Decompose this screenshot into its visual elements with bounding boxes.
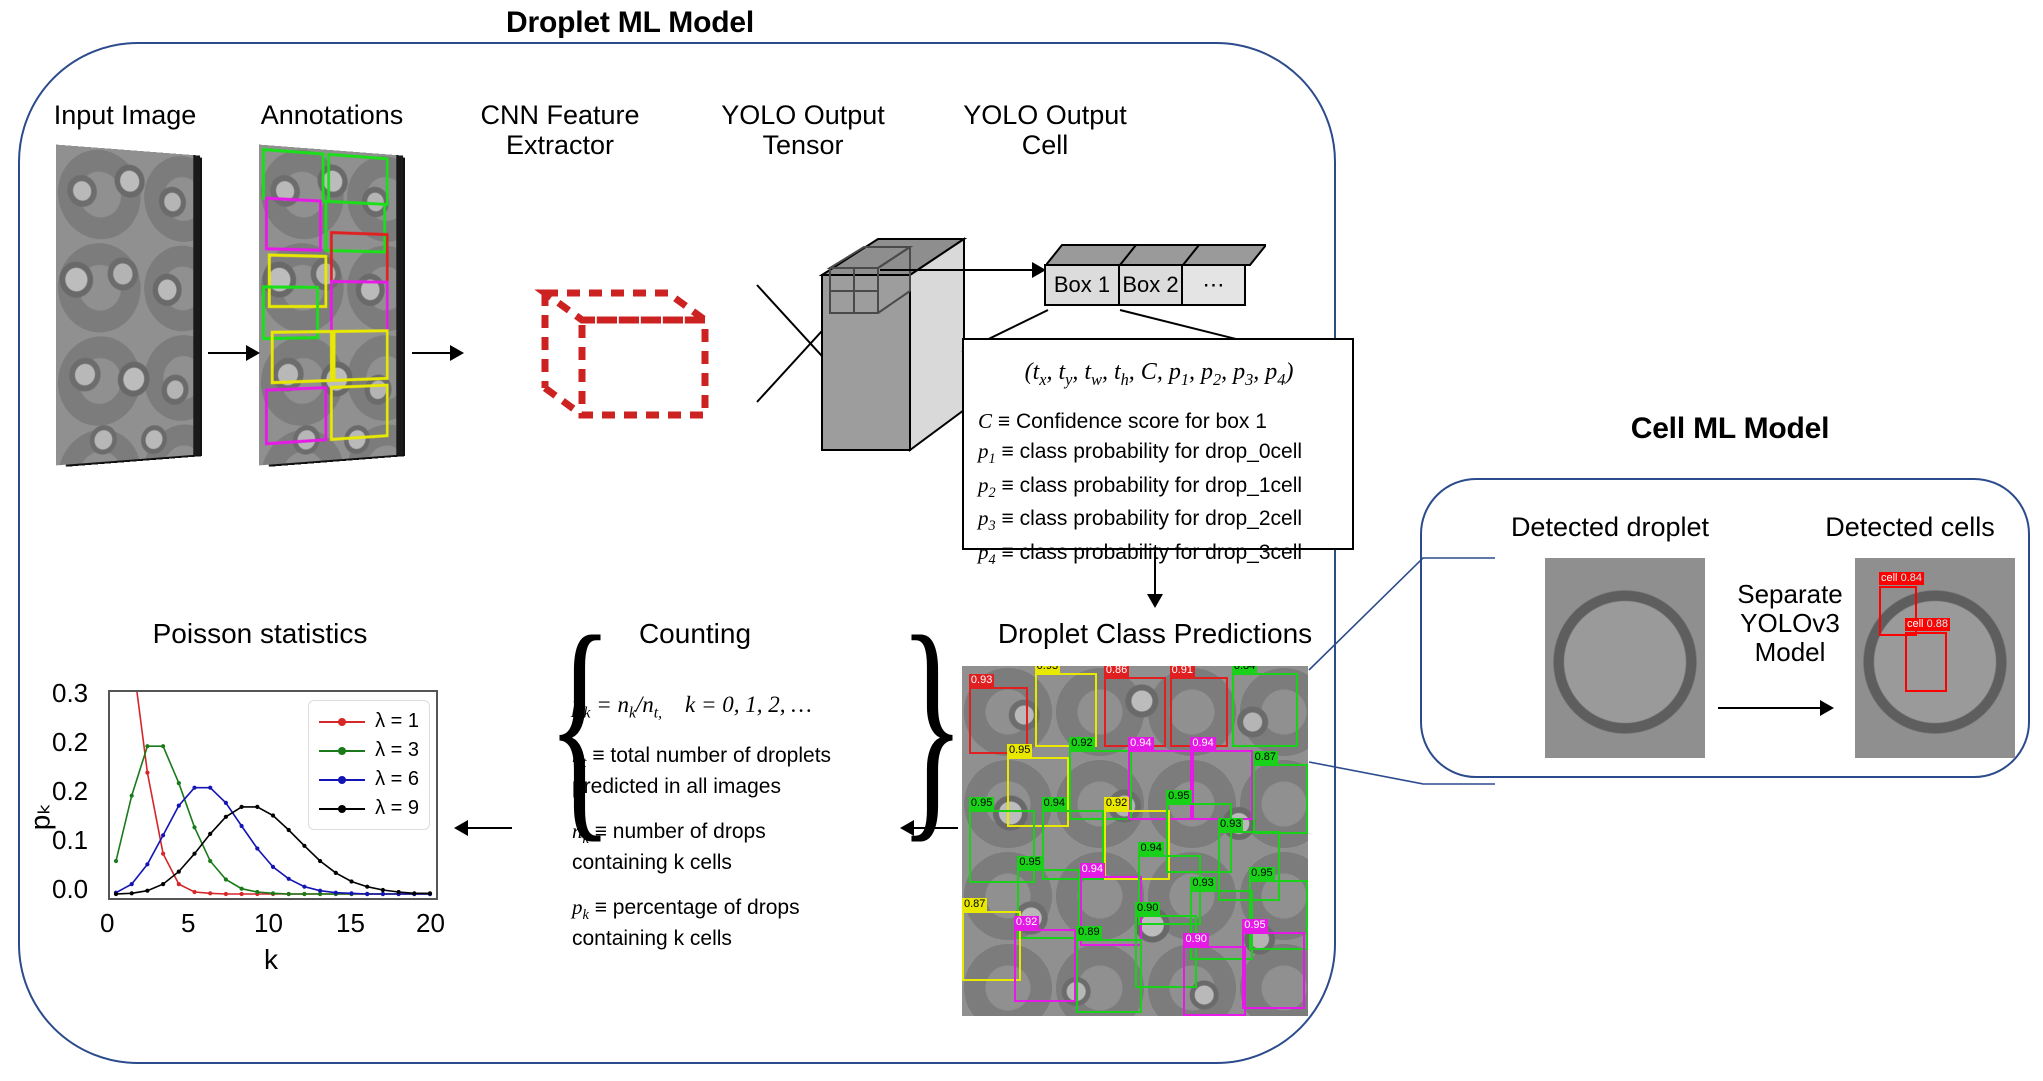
droplet-panel-title: Droplet ML Model [420, 6, 840, 40]
droplet-detection-box [1170, 677, 1229, 747]
annotations-image-thumbnail [255, 150, 405, 460]
counting-formula: pk = nk/nt, k = 0, 1, 2, … [572, 690, 862, 724]
chart-point [161, 882, 165, 886]
chart-point [130, 794, 134, 798]
detected-cells-label: Detected cells [1790, 512, 2030, 543]
chart-point [271, 891, 275, 895]
droplet-detection-score: 0.86 [1104, 666, 1129, 677]
droplet-detection-box [1242, 932, 1304, 1009]
chart-point [240, 824, 244, 828]
chart-point [240, 887, 244, 891]
chart-point [130, 882, 134, 886]
chart-point [334, 871, 338, 875]
stage-label-yolo-output-cell: YOLO Output Cell [930, 100, 1160, 160]
chart-point [287, 892, 291, 896]
chart-point [318, 889, 322, 893]
chart-point [271, 813, 275, 817]
chart-ytick-4: 0.0 [52, 874, 88, 905]
legend-label-3: λ = 9 [375, 797, 419, 820]
legend-swatch-3 [319, 808, 365, 810]
droplet-detection-score: 0.93 [1218, 818, 1243, 831]
droplet-detection-box [1232, 673, 1298, 747]
chart-point [381, 888, 385, 892]
counting-def-pk: pk ≡ percentage of drops containing k ce… [572, 894, 862, 952]
separate-model-label: Separate YOLOv3 Model [1700, 580, 1880, 667]
chart-point [130, 891, 134, 895]
chart-point [161, 833, 165, 837]
droplet-detection-box [1076, 939, 1142, 1013]
chart-point [145, 862, 149, 866]
chart-xtick-1: 5 [181, 908, 195, 939]
arrow-annotations-to-cnn [412, 345, 466, 361]
chart-xtick-2: 10 [254, 908, 283, 939]
arrow-predictions-to-counting [898, 820, 958, 836]
chart-point [302, 892, 306, 896]
droplet-detection-score: 0.94 [1128, 737, 1153, 750]
droplet-detection-score: 0.94 [1138, 842, 1163, 855]
poisson-chart: pₖ 0.3 0.2 0.2 0.1 0.0 λ = 1 λ = 3 λ = 6… [30, 668, 470, 986]
cell-detection-label-1: cell 0.84 [1879, 572, 1924, 585]
chart-point [145, 889, 149, 893]
chart-point [208, 832, 212, 836]
chart-point [349, 879, 353, 883]
counting-def-nt: nt ≡ total number of droplets predicted … [572, 742, 862, 800]
droplet-detection-score: 0.93 [1035, 666, 1060, 673]
droplet-detection-score: 0.92 [1104, 797, 1129, 810]
chart-point [192, 852, 196, 856]
chart-point [177, 781, 181, 785]
chart-ytick-3: 0.1 [52, 825, 88, 856]
chart-point [240, 892, 244, 896]
droplet-detection-score: 0.92 [1014, 916, 1039, 929]
chart-legend: λ = 1 λ = 3 λ = 6 λ = 9 [308, 700, 430, 830]
chart-point [287, 877, 291, 881]
legend-swatch-2 [319, 779, 365, 781]
chart-xtick-0: 0 [100, 908, 114, 939]
stage-label-cnn-feature-extractor: CNN Feature Extractor [445, 100, 675, 160]
arrow-tensor-to-boxrow [880, 262, 1050, 278]
arrow-droplet-to-cells [1718, 700, 1838, 716]
arrow-equations-to-predictions [1145, 552, 1165, 608]
chart-plot-area: λ = 1 λ = 3 λ = 6 λ = 9 [108, 690, 438, 900]
droplet-detection-score: 0.94 [1042, 797, 1067, 810]
chart-point [114, 859, 118, 863]
input-image-thumbnail [52, 150, 202, 460]
droplet-detection-score: 0.90 [1183, 933, 1208, 946]
chart-point [161, 744, 165, 748]
stage-label-input-image: Input Image [30, 100, 220, 130]
chart-point [302, 885, 306, 889]
cnn-feature-extractor-box [490, 275, 740, 445]
chart-point [365, 885, 369, 889]
droplet-detection-score: 0.90 [1135, 902, 1160, 915]
equation-line-p1: p1 ≡ class probability for drop_0cell [978, 437, 1340, 469]
chart-ytick-2: 0.2 [52, 776, 88, 807]
chart-xtick-4: 20 [416, 908, 445, 939]
legend-swatch-1 [319, 750, 365, 752]
legend-label-2: λ = 6 [375, 768, 419, 791]
cell-detection-label-2: cell 0.88 [1905, 618, 1950, 631]
annotation-boxes [259, 145, 396, 466]
chart-point [177, 804, 181, 808]
legend-label-1: λ = 3 [375, 739, 419, 762]
chart-point [192, 890, 196, 894]
arrow-input-to-annotations [208, 345, 262, 361]
chart-point [302, 844, 306, 848]
chart-point [240, 805, 244, 809]
droplet-detection-score: 0.95 [1017, 856, 1042, 869]
equation-line-p2: p2 ≡ class probability for drop_1cell [978, 471, 1340, 503]
chart-ytick-0: 0.3 [52, 678, 88, 709]
legend-item-2: λ = 6 [319, 765, 419, 794]
droplet-detection-score: 0.87 [962, 898, 987, 911]
chart-point [114, 892, 118, 896]
chart-point [271, 865, 275, 869]
detected-droplet-label: Detected droplet [1480, 512, 1740, 543]
droplet-detection-score: 0.95 [1166, 790, 1191, 803]
detected-cells-image: cell 0.84 cell 0.88 [1855, 558, 2015, 758]
chart-point [208, 891, 212, 895]
droplet-detection-score: 0.84 [1232, 666, 1257, 673]
droplet-detection-score: 0.91 [1170, 666, 1195, 677]
droplet-detection-score: 0.93 [1190, 877, 1215, 890]
chart-point [208, 859, 212, 863]
chart-point [224, 801, 228, 805]
droplet-detection-box [1035, 673, 1097, 747]
chart-point [192, 825, 196, 829]
chart-point [208, 786, 212, 790]
cell-detection-box-2 [1905, 632, 1947, 692]
droplet-class-predictions-image: 0.930.930.860.910.840.920.950.940.940.87… [962, 666, 1308, 1016]
chart-ytick-1: 0.2 [52, 727, 88, 758]
stage-label-yolo-output-tensor: YOLO Output Tensor [688, 100, 918, 160]
chart-point [145, 744, 149, 748]
chart-point [161, 852, 165, 856]
chart-point [145, 771, 149, 775]
legend-item-3: λ = 9 [319, 794, 419, 823]
chart-point [365, 892, 369, 896]
droplet-detection-score: 0.87 [1253, 751, 1278, 764]
droplet-class-predictions-title: Droplet Class Predictions [965, 618, 1345, 650]
counting-definitions: pk = nk/nt, k = 0, 1, 2, … nt ≡ total nu… [572, 690, 862, 970]
counting-brace-right: } [899, 600, 965, 850]
equation-line-C: C ≡ Confidence score for box 1 [978, 407, 1340, 436]
chart-point [287, 828, 291, 832]
droplet-detection-score: 0.89 [1076, 926, 1101, 939]
droplet-detection-score: 0.95 [969, 797, 994, 810]
chart-point [224, 877, 228, 881]
counting-def-nk: nk ≡ number of drops containing k cells [572, 818, 862, 876]
legend-item-0: λ = 1 [319, 707, 419, 736]
droplet-detection-box [1183, 946, 1245, 1016]
droplet-detection-box [1104, 677, 1166, 747]
legend-label-0: λ = 1 [375, 710, 419, 733]
chart-point [334, 891, 338, 895]
chart-point [318, 859, 322, 863]
chart-point [224, 892, 228, 896]
legend-item-1: λ = 3 [319, 736, 419, 765]
chart-point [224, 815, 228, 819]
equation-line-p3: p3 ≡ class probability for drop_2cell [978, 504, 1340, 536]
droplet-detection-box [962, 911, 1021, 981]
chart-point [397, 890, 401, 894]
stage-label-annotations: Annotations [232, 100, 432, 130]
chart-point [255, 805, 259, 809]
droplet-detection-score: 0.94 [1190, 737, 1215, 750]
chart-point [177, 870, 181, 874]
chart-point [381, 892, 385, 896]
chart-xlabel: k [264, 944, 278, 976]
droplet-detection-score: 0.95 [1007, 744, 1032, 757]
chart-point [255, 846, 259, 850]
legend-swatch-0 [319, 721, 365, 723]
chart-point [192, 786, 196, 790]
poisson-statistics-title: Poisson statistics [110, 618, 410, 650]
chart-xtick-3: 15 [336, 908, 365, 939]
droplet-detection-box [1014, 929, 1076, 1003]
chart-point [412, 891, 416, 895]
droplet-detection-score: 0.95 [1249, 867, 1274, 880]
droplet-detection-score: 0.92 [1069, 737, 1094, 750]
chart-point [428, 891, 432, 895]
droplet-detection-score: 0.93 [969, 674, 994, 687]
droplet-detection-score: 0.94 [1080, 863, 1105, 876]
yolo-tuple-formula: (tx, ty, tw, th, C, p1, p2, p3, p4) [978, 356, 1340, 391]
detected-droplet-image [1545, 558, 1705, 758]
chart-point [177, 882, 181, 886]
droplet-detection-score: 0.95 [1242, 919, 1267, 932]
chart-point [349, 891, 353, 895]
chart-point [255, 890, 259, 894]
